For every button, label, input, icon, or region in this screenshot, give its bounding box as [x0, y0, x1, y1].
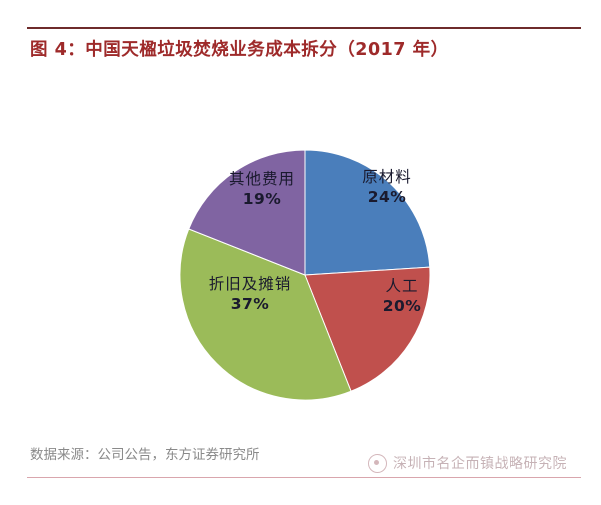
figure-container: 图 4：中国天楹垃圾焚烧业务成本拆分（2017 年） 原材料 24% 人工 20… [0, 0, 601, 505]
pie-slice-group [180, 150, 430, 400]
circle-logo-icon [368, 454, 387, 473]
header-divider [27, 27, 581, 29]
pie-chart: 原材料 24% 人工 20% 折旧及摊销 37% 其他费用 19% [27, 72, 581, 432]
pie-slice [305, 150, 430, 275]
footer-divider [27, 477, 581, 478]
source-note: 数据来源：公司公告，东方证券研究所 [30, 443, 260, 463]
pie-chart-svg [27, 72, 581, 432]
figure-title: 图 4：中国天楹垃圾焚烧业务成本拆分（2017 年） [30, 36, 570, 61]
watermark-text: 深圳市名企而镇战略研究院 [393, 453, 567, 473]
chart-area: 原材料 24% 人工 20% 折旧及摊销 37% 其他费用 19% [27, 72, 581, 432]
watermark: 深圳市名企而镇战略研究院 [368, 448, 593, 478]
